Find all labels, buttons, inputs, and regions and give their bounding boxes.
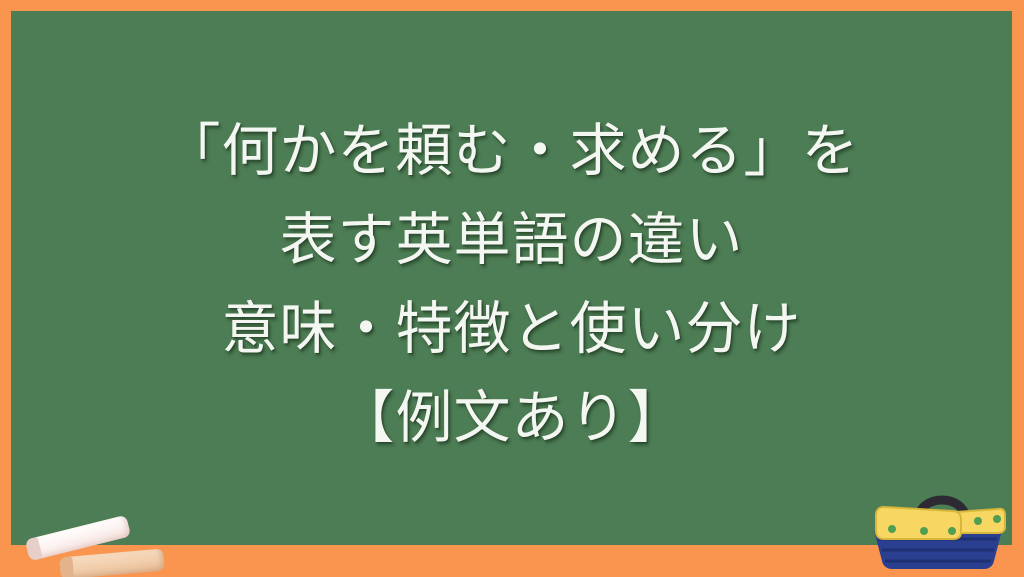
chalkboard: 「何かを頼む・求める」を 表す英単語の違い 意味・特徴と使い分け 【例文あり】 <box>11 11 1012 545</box>
title-line-2: 表す英単語の違い <box>280 196 744 285</box>
basket-stud-4 <box>974 517 982 525</box>
title-line-3: 意味・特徴と使い分け <box>222 285 802 374</box>
title-block: 「何かを頼む・求める」を 表す英単語の違い 意味・特徴と使い分け 【例文あり】 <box>11 11 1012 545</box>
toolbox-basket-icon <box>870 477 1006 573</box>
tan-chalk-icon <box>59 549 165 577</box>
basket-stud-2 <box>920 527 928 535</box>
basket-stud-1 <box>888 525 896 533</box>
basket-stud-5 <box>993 515 1001 523</box>
slide-canvas: 「何かを頼む・求める」を 表す英単語の違い 意味・特徴と使い分け 【例文あり】 <box>0 0 1024 577</box>
title-line-4: 【例文あり】 <box>338 374 686 463</box>
basket-stud-3 <box>948 527 956 535</box>
chalk-sticks-illustration <box>16 503 176 577</box>
basket-lid-left <box>876 507 961 539</box>
title-line-1: 「何かを頼む・求める」を <box>164 107 860 196</box>
toolbox-basket-illustration <box>870 477 1006 573</box>
